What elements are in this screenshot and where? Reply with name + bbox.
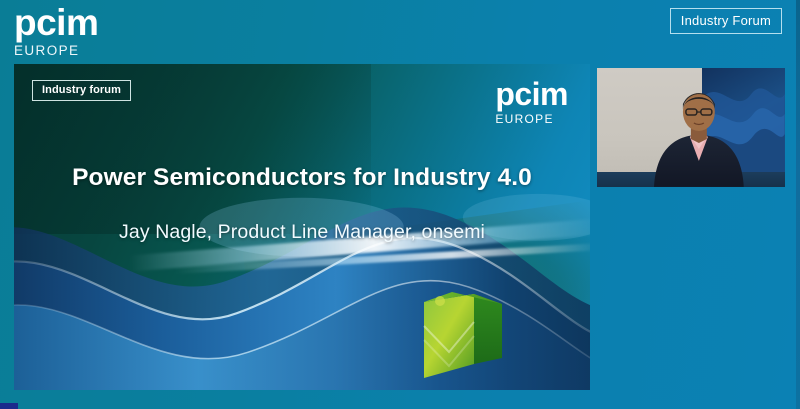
slide-pcim-logo-text: pcim bbox=[495, 78, 568, 110]
speaker-figure bbox=[650, 87, 748, 187]
pcim-logo-subtext: EUROPE bbox=[14, 44, 98, 58]
green-cube-graphic bbox=[416, 286, 508, 382]
slide-title: Power Semiconductors for Industry 4.0 bbox=[14, 164, 590, 192]
presentation-viewer: pcim EUROPE Industry Forum bbox=[0, 0, 800, 409]
pcim-logo-text: pcim bbox=[14, 4, 98, 41]
slide-subtitle: Jay Nagle, Product Line Manager, onsemi bbox=[14, 221, 590, 244]
bottom-left-marker bbox=[0, 403, 18, 409]
slide-pcim-logo-subtext: EUROPE bbox=[495, 113, 568, 125]
page-header: pcim EUROPE Industry Forum bbox=[0, 0, 800, 62]
slide-canvas[interactable]: Industry forum pcim EUROPE Power Semicon… bbox=[14, 64, 590, 390]
slide-industry-forum-tag: Industry forum bbox=[32, 80, 131, 101]
industry-forum-badge[interactable]: Industry Forum bbox=[670, 8, 782, 34]
slide-pcim-logo: pcim EUROPE bbox=[495, 78, 568, 125]
right-edge-strip bbox=[796, 0, 800, 409]
speaker-video-panel[interactable] bbox=[597, 68, 785, 187]
pcim-europe-logo: pcim EUROPE bbox=[14, 4, 98, 58]
